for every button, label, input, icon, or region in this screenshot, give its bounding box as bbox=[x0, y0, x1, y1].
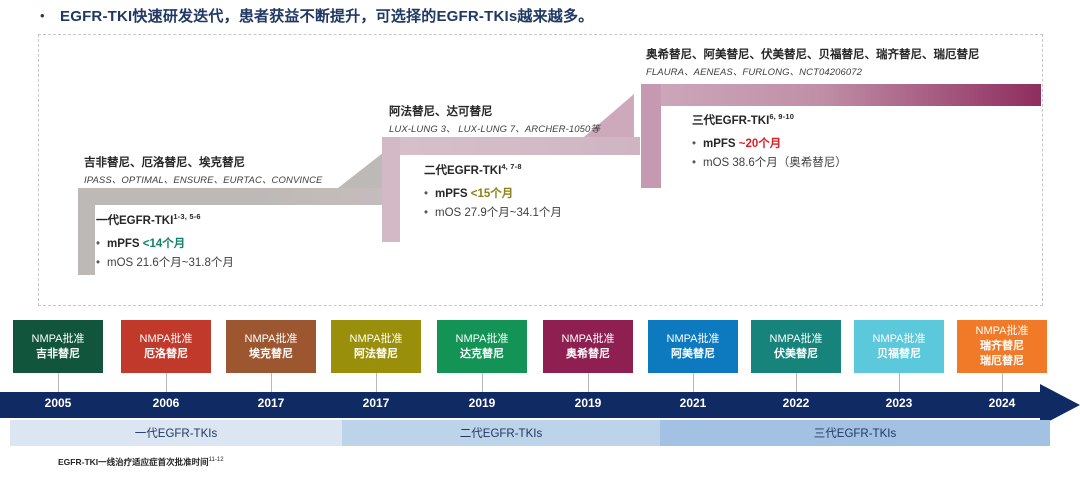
band-gen1: 一代EGFR-TKIs bbox=[10, 420, 342, 446]
gen1-mos-row: • mOS 21.6个月~31.8个月 bbox=[96, 254, 234, 273]
approval-box-drug: 奥希替尼 bbox=[566, 347, 610, 362]
gen2-bar-horizontal bbox=[382, 137, 640, 155]
approval-box-agency: NMPA批准 bbox=[140, 332, 193, 347]
gen3-bar-horizontal bbox=[641, 84, 1041, 106]
approval-box-3[interactable]: NMPA批准埃克替尼 bbox=[226, 320, 316, 373]
approval-box-agency: NMPA批准 bbox=[245, 332, 298, 347]
gen3-mpfs: mPFS ~20个月 bbox=[703, 135, 781, 154]
year-label-8: 2022 bbox=[751, 396, 841, 410]
headline: • EGFR-TKI快速研发迭代，患者获益不断提升，可选择的EGFR-TKIs越… bbox=[0, 0, 1080, 30]
approval-box-1[interactable]: NMPA批准吉非替尼 bbox=[13, 320, 103, 373]
year-label-4: 2017 bbox=[331, 396, 421, 410]
gen2-mpfs-label: mPFS bbox=[435, 188, 468, 200]
approval-box-drug: 吉非替尼 bbox=[36, 347, 80, 362]
gen1-mpfs-row: • mPFS <14个月 bbox=[96, 235, 234, 254]
gen3-title-superscript: 6, 9-10 bbox=[769, 112, 794, 121]
gen2-mos-label: mOS bbox=[435, 207, 461, 219]
approval-box-drug: 贝福替尼 bbox=[877, 347, 921, 362]
year-label-6: 2019 bbox=[543, 396, 633, 410]
approval-box-9[interactable]: NMPA批准贝福替尼 bbox=[854, 320, 944, 373]
headline-text-plain: EGFR-TKI快速研发迭代，患者获益不断提升， bbox=[60, 8, 376, 25]
gen1-detail-card: 一代EGFR-TKI1-3, 5-6 • mPFS <14个月 • mOS 21… bbox=[96, 212, 234, 273]
band-gen3-label: 三代EGFR-TKIs bbox=[814, 425, 896, 441]
gen3-mpfs-label: mPFS bbox=[703, 138, 736, 150]
gen2-mos: mOS 27.9个月~34.1个月 bbox=[435, 204, 562, 223]
gen3-mos-label: mOS bbox=[703, 157, 729, 169]
approval-box-drug: 达克替尼 bbox=[460, 347, 504, 362]
gen2-mpfs-row: • mPFS <15个月 bbox=[424, 185, 562, 204]
approval-box-drug-2: 瑞厄替尼 bbox=[980, 354, 1024, 369]
year-label-3: 2017 bbox=[226, 396, 316, 410]
approval-box-4[interactable]: NMPA批准阿法替尼 bbox=[331, 320, 421, 373]
approval-box-agency: NMPA批准 bbox=[32, 332, 85, 347]
year-label-1: 2005 bbox=[13, 396, 103, 410]
approval-box-agency: NMPA批准 bbox=[456, 332, 509, 347]
gen1-bar-riser bbox=[338, 152, 384, 188]
band-gen2-label: 二代EGFR-TKIs bbox=[460, 425, 542, 441]
approval-box-5[interactable]: NMPA批准达克替尼 bbox=[437, 320, 527, 373]
bullet-dot-icon: • bbox=[96, 235, 107, 254]
gen1-trials: IPASS、OPTIMAL、ENSURE、EURTAC、CONVINCE bbox=[84, 172, 323, 186]
gen1-bar-horizontal bbox=[78, 188, 398, 205]
gen2-detail-card: 二代EGFR-TKI4, 7-8 • mPFS <15个月 • mOS 27.9… bbox=[424, 162, 562, 223]
headline-text: EGFR-TKI快速研发迭代，患者获益不断提升，可选择的EGFR-TKIs越来越… bbox=[60, 5, 593, 26]
gen3-drug-names: 奥希替尼、阿美替尼、伏美替尼、贝福替尼、瑞齐替尼、瑞厄替尼 bbox=[646, 48, 980, 64]
bullet-dot-icon: • bbox=[96, 254, 107, 273]
bullet-dot-icon: • bbox=[692, 135, 703, 154]
approval-box-agency: NMPA批准 bbox=[770, 332, 823, 347]
footnote-superscript: 11-12 bbox=[209, 457, 224, 463]
gen3-bar-vertical bbox=[641, 84, 661, 188]
gen3-mos: mOS 38.6个月（奥希替尼） bbox=[703, 154, 847, 173]
approval-box-drug: 阿美替尼 bbox=[671, 347, 715, 362]
gen1-mpfs-value: <14个月 bbox=[143, 238, 186, 250]
year-label-9: 2023 bbox=[854, 396, 944, 410]
gen1-mos-value: 21.6个月~31.8个月 bbox=[136, 257, 233, 269]
gen3-mos-row: • mOS 38.6个月（奥希替尼） bbox=[692, 154, 847, 173]
gen3-trials: FLAURA、AENEAS、FURLONG、NCT04206072 bbox=[646, 64, 980, 78]
bullet-dot-icon: • bbox=[424, 185, 435, 204]
gen2-drug-header: 阿法替尼、达可替尼 LUX-LUNG 3、 LUX-LUNG 7、ARCHER-… bbox=[389, 105, 600, 135]
gen2-title-superscript: 4, 7-8 bbox=[501, 162, 521, 171]
footnote: EGFR-TKI一线治疗适应症首次批准时间11-12 bbox=[58, 456, 224, 468]
gen1-mpfs-label: mPFS bbox=[107, 238, 140, 250]
gen1-mpfs: mPFS <14个月 bbox=[107, 235, 185, 254]
band-gen3: 三代EGFR-TKIs bbox=[660, 420, 1050, 446]
gen1-mos-label: mOS bbox=[107, 257, 133, 269]
approval-box-drug: 阿法替尼 bbox=[354, 347, 398, 362]
gen3-title-text: 三代EGFR-TKI bbox=[692, 115, 769, 127]
gen3-mos-value: 38.6个月（奥希替尼） bbox=[732, 157, 846, 169]
gen2-mpfs: mPFS <15个月 bbox=[435, 185, 513, 204]
band-gen1-label: 一代EGFR-TKIs bbox=[135, 425, 217, 441]
gen3-drug-header: 奥希替尼、阿美替尼、伏美替尼、贝福替尼、瑞齐替尼、瑞厄替尼 FLAURA、AEN… bbox=[646, 48, 980, 78]
gen2-mos-row: • mOS 27.9个月~34.1个月 bbox=[424, 204, 562, 223]
approval-box-drug: 瑞齐替尼 bbox=[980, 339, 1024, 354]
bullet-dot-icon: • bbox=[424, 204, 435, 223]
approval-box-2[interactable]: NMPA批准厄洛替尼 bbox=[121, 320, 211, 373]
approval-box-6[interactable]: NMPA批准奥希替尼 bbox=[543, 320, 633, 373]
approval-box-agency: NMPA批准 bbox=[667, 332, 720, 347]
gen2-title-text: 二代EGFR-TKI bbox=[424, 165, 501, 177]
gen1-bar-vertical bbox=[78, 188, 95, 275]
gen3-mpfs-row: • mPFS ~20个月 bbox=[692, 135, 847, 154]
gen2-trials: LUX-LUNG 3、 LUX-LUNG 7、ARCHER-1050等 bbox=[389, 121, 600, 135]
gen3-title: 三代EGFR-TKI6, 9-10 bbox=[692, 112, 847, 128]
year-label-10: 2024 bbox=[957, 396, 1047, 410]
approval-box-drug: 厄洛替尼 bbox=[144, 347, 188, 362]
gen1-drug-header: 吉非替尼、厄洛替尼、埃克替尼 IPASS、OPTIMAL、ENSURE、EURT… bbox=[84, 156, 323, 186]
gen2-bar-vertical bbox=[382, 137, 400, 242]
gen1-title-text: 一代EGFR-TKI bbox=[96, 215, 173, 227]
gen1-title: 一代EGFR-TKI1-3, 5-6 bbox=[96, 212, 234, 228]
bullet-dot-icon: • bbox=[692, 154, 703, 173]
gen2-title: 二代EGFR-TKI4, 7-8 bbox=[424, 162, 562, 178]
gen1-drug-names: 吉非替尼、厄洛替尼、埃克替尼 bbox=[84, 156, 323, 172]
approval-box-agency: NMPA批准 bbox=[873, 332, 926, 347]
approval-box-drug: 伏美替尼 bbox=[774, 347, 818, 362]
approval-box-8[interactable]: NMPA批准伏美替尼 bbox=[751, 320, 841, 373]
headline-bullet: • bbox=[40, 9, 50, 22]
gen2-drug-names: 阿法替尼、达可替尼 bbox=[389, 105, 600, 121]
approval-box-agency: NMPA批准 bbox=[976, 324, 1029, 339]
gen3-detail-card: 三代EGFR-TKI6, 9-10 • mPFS ~20个月 • mOS 38.… bbox=[692, 112, 847, 173]
approval-box-agency: NMPA批准 bbox=[562, 332, 615, 347]
footnote-text: EGFR-TKI一线治疗适应症首次批准时间 bbox=[58, 457, 209, 467]
gen3-mpfs-value: ~20个月 bbox=[739, 138, 782, 150]
approval-box-agency: NMPA批准 bbox=[350, 332, 403, 347]
band-gen2: 二代EGFR-TKIs bbox=[342, 420, 660, 446]
year-label-5: 2019 bbox=[437, 396, 527, 410]
gen1-title-superscript: 1-3, 5-6 bbox=[173, 212, 200, 221]
gen2-mos-value: 27.9个月~34.1个月 bbox=[464, 207, 561, 219]
approval-box-7[interactable]: NMPA批准阿美替尼 bbox=[648, 320, 738, 373]
gen1-mos: mOS 21.6个月~31.8个月 bbox=[107, 254, 234, 273]
year-label-2: 2006 bbox=[121, 396, 211, 410]
headline-text-bold: 可选择的EGFR-TKIs越来越多。 bbox=[376, 8, 594, 25]
approval-box-drug: 埃克替尼 bbox=[249, 347, 293, 362]
approval-box-10[interactable]: NMPA批准瑞齐替尼瑞厄替尼 bbox=[957, 320, 1047, 373]
year-label-7: 2021 bbox=[648, 396, 738, 410]
gen2-mpfs-value: <15个月 bbox=[471, 188, 514, 200]
